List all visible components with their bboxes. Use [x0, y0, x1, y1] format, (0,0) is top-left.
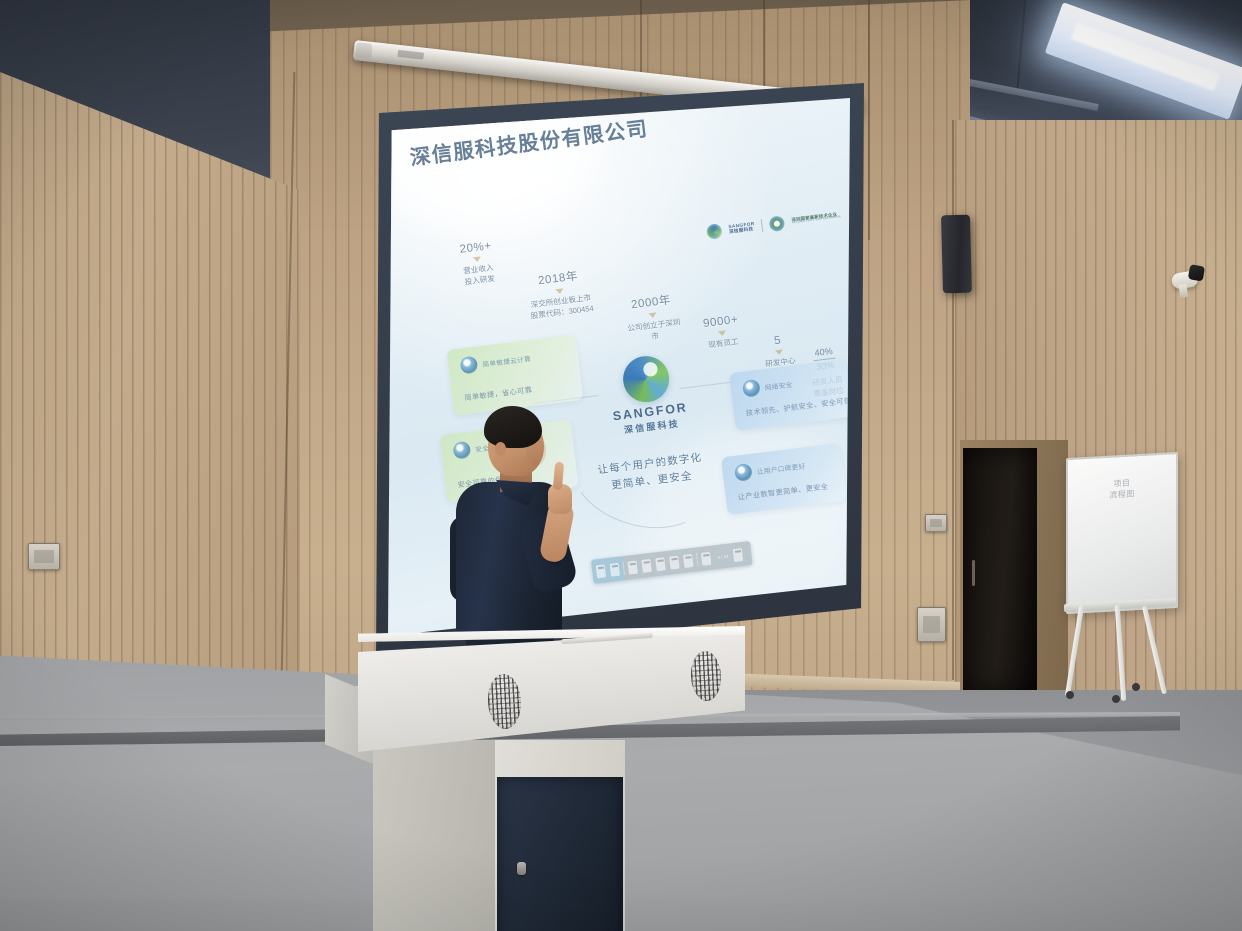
undo-icon[interactable] [627, 560, 637, 574]
pen-icon[interactable] [610, 562, 620, 576]
whiteboard-easel[interactable]: 项目 流程图 [1060, 455, 1180, 695]
easel-leg [1142, 606, 1167, 695]
stat-arrow-icon [718, 330, 727, 336]
wall-outlet-panel[interactable] [917, 607, 946, 642]
card-icon [734, 463, 753, 482]
card-icon [459, 356, 478, 375]
card-title: 简单敏捷云计算 [482, 352, 532, 368]
easel-caster [1066, 691, 1074, 699]
lectern-body-left [373, 740, 503, 931]
stat-arrow-icon [555, 288, 564, 294]
door-handle[interactable] [972, 560, 975, 586]
slide-annotation-toolbar[interactable]: 4 / 44 [591, 541, 753, 584]
sangfor-logo-icon [706, 223, 723, 240]
stat-item-2: 2000年 公司创立于深圳 市 [609, 289, 696, 347]
eraser-icon[interactable] [641, 558, 651, 572]
easel-leg [1065, 605, 1084, 697]
stat-arrow-icon [473, 256, 482, 262]
presenter-ear [495, 442, 506, 456]
next-page-icon[interactable] [733, 548, 743, 562]
stat-number: 2000年 [609, 289, 692, 315]
logo-divider [761, 219, 764, 232]
lectern[interactable] [325, 622, 745, 931]
stat-arrow-icon [775, 349, 784, 355]
image-icon[interactable] [683, 554, 693, 568]
stat-item-3: 9000+ 现有员工 [688, 312, 756, 353]
prev-page-icon[interactable] [701, 551, 711, 565]
whiteboard-writing: 项目 流程图 [1068, 476, 1176, 504]
lectern-cabinet-door[interactable] [497, 777, 623, 931]
card-description: 简单敏捷，省心可靠 [464, 385, 533, 403]
sangfor-globe-icon [620, 353, 671, 404]
feature-card-0: 简单敏捷云计算 简单敏捷，省心可靠 [446, 334, 583, 415]
conference-room-scene: 深信服科技股份有限公司 SANGFOR 深信服科技 深圳国家高新技术企业 NAT… [0, 0, 1242, 931]
whiteboard-surface[interactable]: 项目 流程图 [1066, 452, 1178, 614]
card-description: 让产业数智更简单、更安全 [737, 482, 829, 503]
stat-item-1: 2018年 深交所创业板上市 股票代码：300454 [505, 264, 614, 324]
stat-label: 公司创立于深圳 市 [613, 315, 697, 347]
wall-speaker [941, 215, 972, 294]
easel-caster [1112, 695, 1120, 703]
stat-label: 深交所创业板上市 股票代码：300454 [509, 289, 615, 324]
wall-corner-seam [952, 120, 954, 680]
sangfor-logo-cn: 深信服科技 [729, 226, 756, 234]
easel-leg [1115, 605, 1127, 701]
page-indicator: 4 / 44 [717, 553, 729, 559]
feature-card-3: 让用户口碑更好 让产业数智更简单、更安全 [721, 443, 847, 515]
card-icon [742, 379, 761, 398]
text-icon[interactable] [669, 555, 679, 569]
toolbar-group-page-nav[interactable]: 4 / 44 [696, 542, 747, 572]
stat-arrow-icon [648, 312, 657, 318]
easel-caster [1132, 683, 1140, 691]
wall-outlet[interactable] [28, 543, 60, 570]
lectern-front-panel [358, 630, 745, 752]
wall-panel-seam [868, 0, 870, 240]
partner-logo-icon [769, 215, 786, 232]
feature-card-2: 网络安全 技术领先、护航安全、安全可信 [729, 359, 850, 431]
shape-icon[interactable] [655, 557, 665, 571]
presenter-hair [484, 406, 542, 448]
card-title: 让用户口碑更好 [756, 460, 806, 476]
stat-number: 5 [751, 332, 804, 350]
toolbar-group-edit-tools[interactable] [623, 548, 698, 580]
card-description: 技术领先、护航安全、安全可信 [745, 396, 850, 419]
wall-switch[interactable] [925, 514, 947, 532]
lectern-lock[interactable] [517, 862, 526, 875]
slide-logo-group: SANGFOR 深信服科技 深圳国家高新技术企业 NATIONAL HIGH-T… [706, 208, 842, 240]
stat-number: 20%+ [436, 237, 515, 259]
stat-number: 9000+ [688, 312, 753, 332]
card-title: 网络安全 [764, 378, 793, 391]
